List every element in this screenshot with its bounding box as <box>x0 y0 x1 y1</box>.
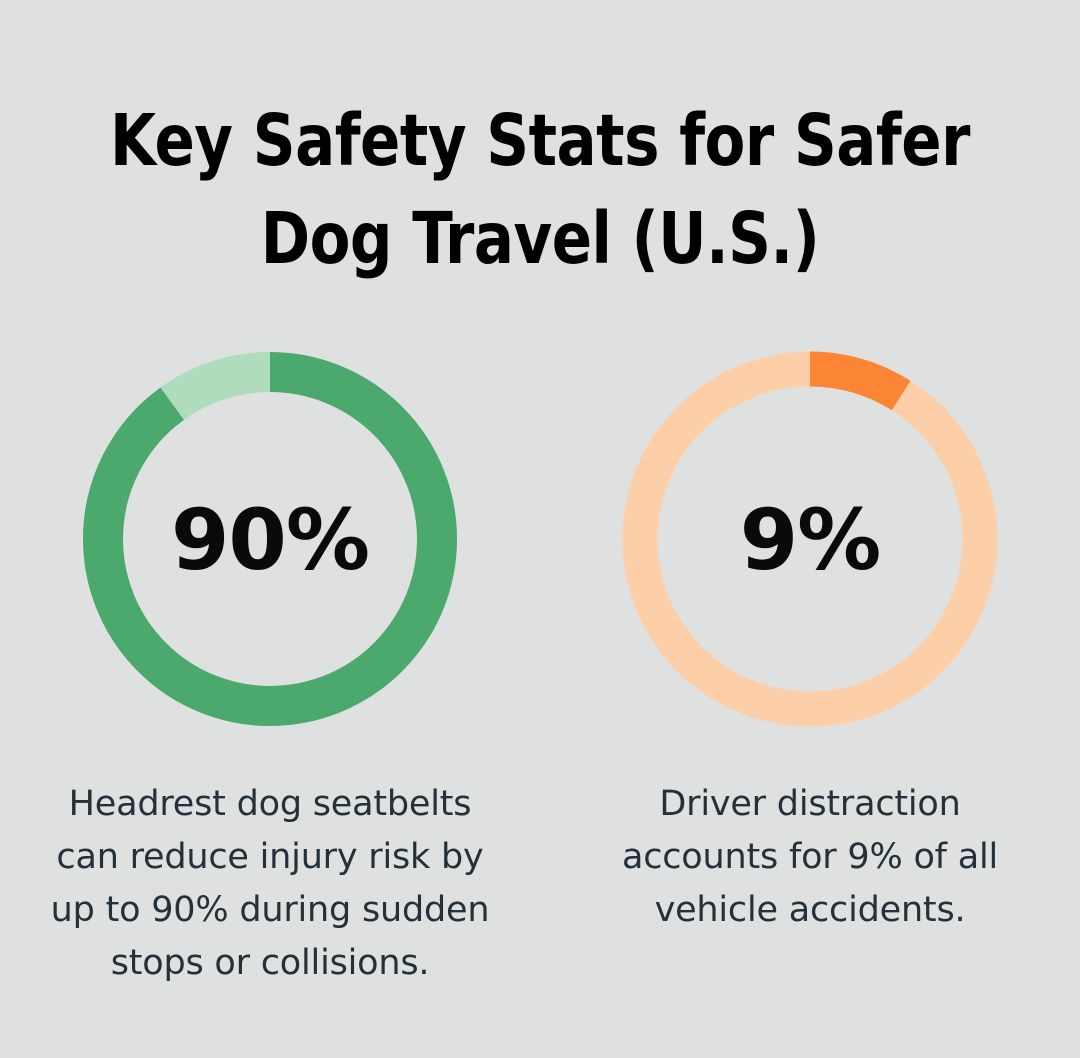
stat-caption-driver-distraction: Driver distraction accounts for 9% of al… <box>610 778 1010 937</box>
donut-center-value-headrest-seatbelt: 90% <box>171 498 369 582</box>
donut-chart-driver-distraction: 9% <box>622 346 998 732</box>
page-title-line-1: Key Safety Stats for Safer <box>38 92 1042 190</box>
infographic-root: Key Safety Stats for Safer Dog Travel (U… <box>0 0 1080 1058</box>
stats-row: 90% Headrest dog seatbelts can reduce in… <box>0 346 1080 990</box>
donut-center-value-driver-distraction: 9% <box>740 498 881 582</box>
donut-chart-headrest-seatbelt: 90% <box>82 346 458 732</box>
stat-card-headrest-seatbelt: 90% Headrest dog seatbelts can reduce in… <box>0 346 540 990</box>
stat-caption-headrest-seatbelt: Headrest dog seatbelts can reduce injury… <box>35 778 505 990</box>
page-title-line-2: Dog Travel (U.S.) <box>38 190 1042 288</box>
stat-card-driver-distraction: 9% Driver distraction accounts for 9% of… <box>540 346 1080 937</box>
page-title: Key Safety Stats for Safer Dog Travel (U… <box>0 92 1080 288</box>
